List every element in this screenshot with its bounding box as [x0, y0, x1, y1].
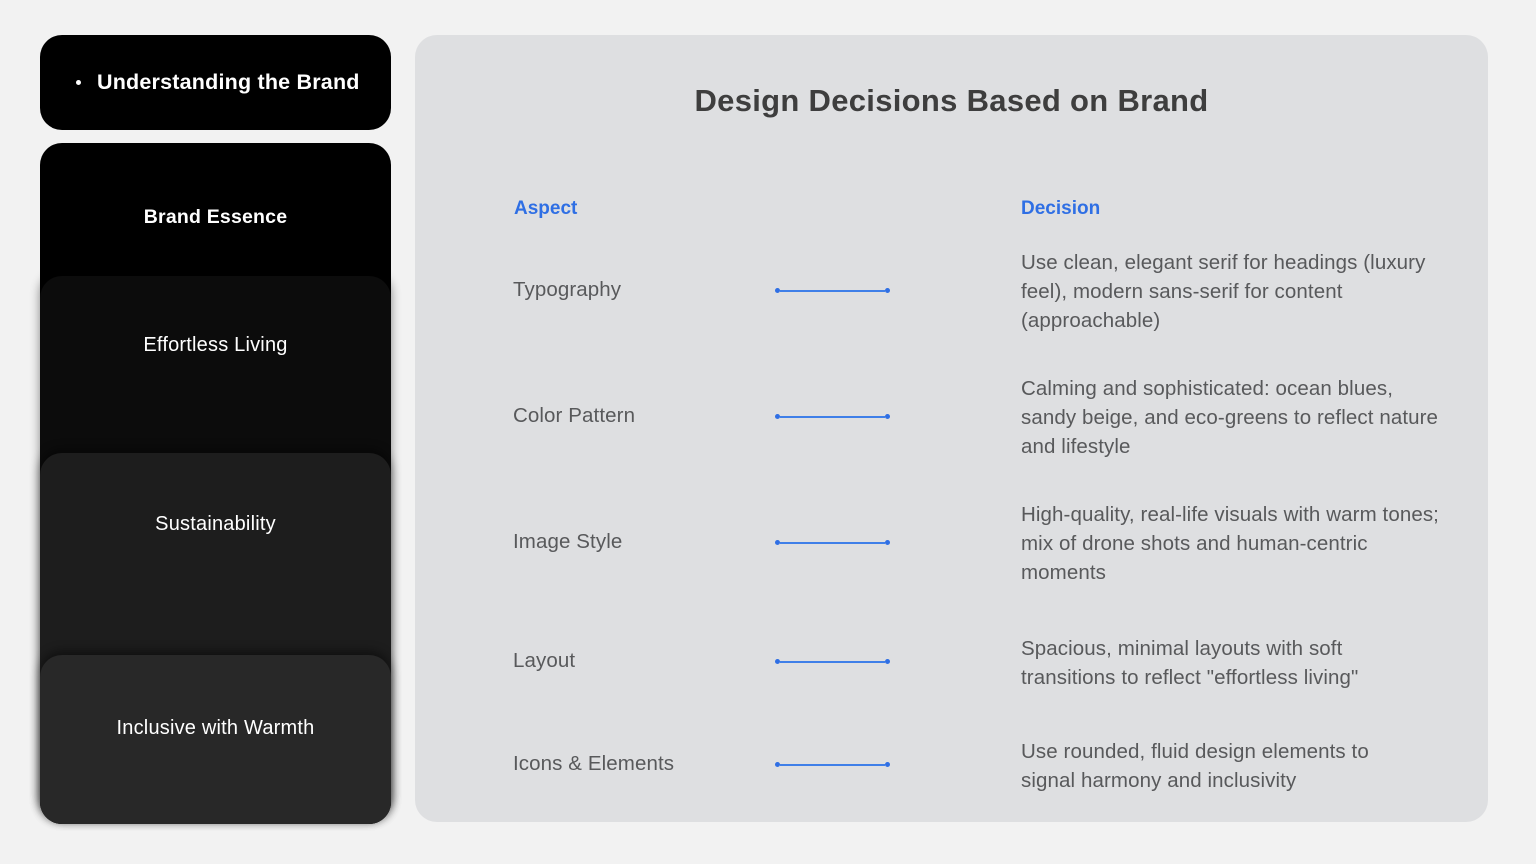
cell-aspect: Icons & Elements	[513, 752, 763, 776]
sidebar-card-inclusive-with-warmth[interactable]: Inclusive with Warmth	[40, 655, 391, 824]
cell-aspect: Typography	[513, 278, 763, 302]
cell-decision: Calming and sophisticated: ocean blues, …	[1021, 374, 1441, 461]
connector-line-segment	[780, 661, 885, 663]
connector-dot-right-icon	[885, 659, 890, 664]
connector-line-icon	[775, 539, 890, 546]
connector-dot-right-icon	[885, 288, 890, 293]
connector-line-icon	[775, 658, 890, 665]
bullet-dot-icon	[76, 80, 81, 85]
sidebar-nav-pill-label: Understanding the Brand	[97, 70, 360, 95]
table-row: Typography Use clean, elegant serif for …	[415, 231, 1488, 357]
cell-decision: Use rounded, fluid design elements to si…	[1021, 737, 1421, 795]
connector-line-segment	[780, 416, 885, 418]
sidebar-card-label: Inclusive with Warmth	[40, 717, 391, 740]
table-row: Layout Spacious, minimal layouts with so…	[415, 609, 1488, 712]
cell-aspect: Color Pattern	[513, 404, 763, 428]
connector-dot-right-icon	[885, 762, 890, 767]
column-header-aspect: Aspect	[514, 198, 577, 220]
decisions-table: Typography Use clean, elegant serif for …	[415, 231, 1488, 812]
sidebar-card-label: Brand Essence	[40, 206, 391, 229]
column-header-decision: Decision	[1021, 198, 1100, 220]
table-row: Icons & Elements Use rounded, fluid desi…	[415, 712, 1488, 812]
connector-line-icon	[775, 287, 890, 294]
cell-decision: Spacious, minimal layouts with soft tran…	[1021, 634, 1421, 692]
page-title: Design Decisions Based on Brand	[415, 83, 1488, 119]
connector-line-icon	[775, 413, 890, 420]
connector-dot-right-icon	[885, 540, 890, 545]
sidebar-card-label: Sustainability	[40, 513, 391, 536]
cell-decision: High-quality, real-life visuals with war…	[1021, 500, 1441, 587]
table-row: Image Style High-quality, real-life visu…	[415, 483, 1488, 609]
sidebar: Understanding the Brand Brand Essence Ef…	[40, 35, 391, 824]
connector-line-icon	[775, 761, 890, 768]
sidebar-card-label: Effortless Living	[40, 334, 391, 357]
connector-dot-right-icon	[885, 414, 890, 419]
sidebar-card-stack: Brand Essence Effortless Living Sustaina…	[40, 143, 391, 824]
main-panel: Design Decisions Based on Brand Aspect D…	[415, 35, 1488, 822]
table-row: Color Pattern Calming and sophisticated:…	[415, 357, 1488, 483]
cell-aspect: Layout	[513, 649, 763, 673]
connector-line-segment	[780, 764, 885, 766]
cell-decision: Use clean, elegant serif for headings (l…	[1021, 248, 1441, 335]
sidebar-nav-pill-understanding-the-brand[interactable]: Understanding the Brand	[40, 35, 391, 130]
slide-root: Understanding the Brand Brand Essence Ef…	[0, 0, 1536, 864]
connector-line-segment	[780, 290, 885, 292]
connector-line-segment	[780, 542, 885, 544]
cell-aspect: Image Style	[513, 530, 763, 554]
